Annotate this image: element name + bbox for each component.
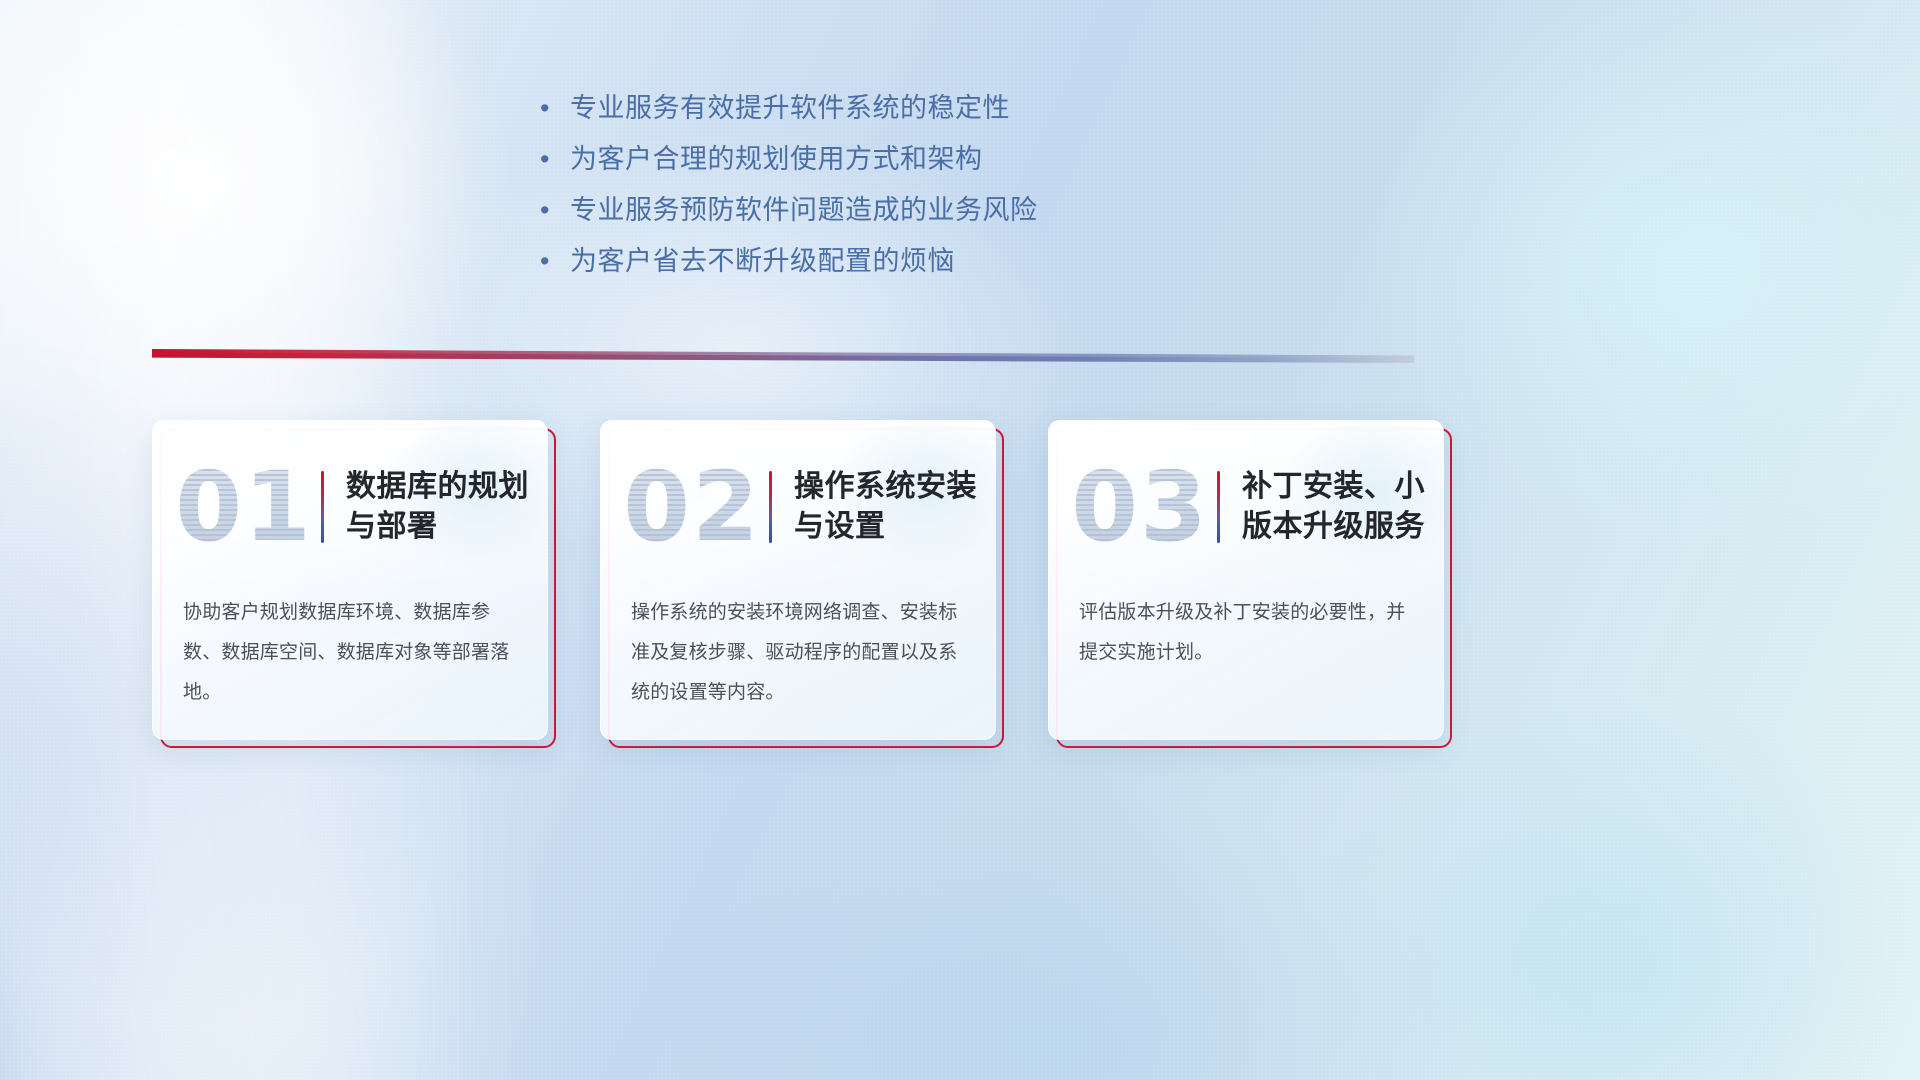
service-card-03[interactable]: 03 补丁安装、小 版本升级服务 评估版本升级及补丁安装的必要性，并提交实施计划… bbox=[1048, 420, 1444, 740]
card-title-line-2: 版本升级服务 bbox=[1242, 507, 1429, 547]
service-card-01[interactable]: 01 数据库的规划 与部署 协助客户规划数据库环境、数据库参数、数据库空间、数据… bbox=[152, 420, 548, 740]
card-title-line-1: 数据库的规划 bbox=[346, 467, 533, 507]
card-surface[interactable]: 02 操作系统安装 与设置 操作系统的安装环境网络调查、安装标准及复核步骤、驱动… bbox=[600, 420, 996, 740]
card-title-accent-bar bbox=[321, 471, 324, 543]
service-card-02[interactable]: 02 操作系统安装 与设置 操作系统的安装环境网络调查、安装标准及复核步骤、驱动… bbox=[600, 420, 996, 740]
card-number-watermark: 01 bbox=[171, 439, 317, 575]
card-surface[interactable]: 03 补丁安装、小 版本升级服务 评估版本升级及补丁安装的必要性，并提交实施计划… bbox=[1048, 420, 1444, 740]
card-title: 数据库的规划 与部署 bbox=[346, 467, 547, 547]
card-title-accent-bar bbox=[1217, 471, 1220, 543]
service-card-group: 01 数据库的规划 与部署 协助客户规划数据库环境、数据库参数、数据库空间、数据… bbox=[0, 0, 1920, 1080]
card-number-watermark: 03 bbox=[1067, 439, 1213, 575]
card-title-accent-bar bbox=[769, 471, 772, 543]
card-number-watermark: 02 bbox=[619, 439, 765, 575]
card-header: 02 操作系统安装 与设置 bbox=[601, 439, 995, 575]
card-header: 03 补丁安装、小 版本升级服务 bbox=[1049, 439, 1443, 575]
card-title-line-2: 与设置 bbox=[794, 507, 981, 547]
card-header: 01 数据库的规划 与部署 bbox=[153, 439, 547, 575]
card-body-text: 评估版本升级及补丁安装的必要性，并提交实施计划。 bbox=[1079, 593, 1417, 673]
card-body-text: 操作系统的安装环境网络调查、安装标准及复核步骤、驱动程序的配置以及系统的设置等内… bbox=[631, 593, 969, 713]
card-title: 补丁安装、小 版本升级服务 bbox=[1242, 467, 1443, 547]
card-surface[interactable]: 01 数据库的规划 与部署 协助客户规划数据库环境、数据库参数、数据库空间、数据… bbox=[152, 420, 548, 740]
card-title-line-1: 补丁安装、小 bbox=[1242, 467, 1429, 507]
card-title: 操作系统安装 与设置 bbox=[794, 467, 995, 547]
card-title-line-1: 操作系统安装 bbox=[794, 467, 981, 507]
card-body-text: 协助客户规划数据库环境、数据库参数、数据库空间、数据库对象等部署落地。 bbox=[183, 593, 521, 713]
card-title-line-2: 与部署 bbox=[346, 507, 533, 547]
